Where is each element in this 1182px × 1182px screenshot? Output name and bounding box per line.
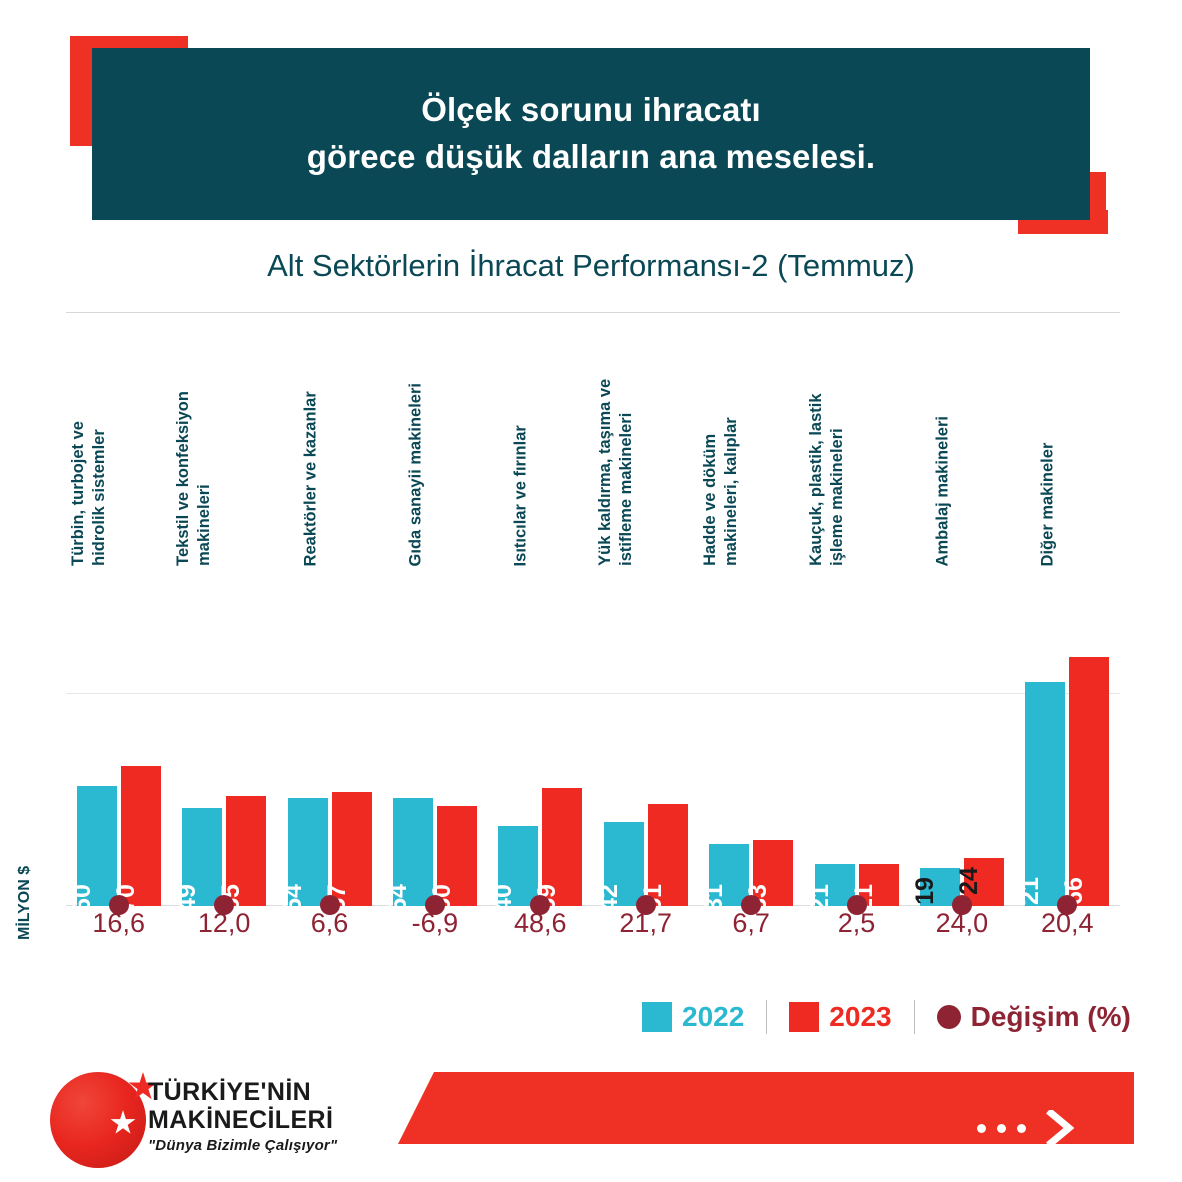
legend-item-2023[interactable]: 2023 [767, 1001, 913, 1033]
legend-label: 2023 [829, 1001, 891, 1033]
bar-2023: 59 [542, 788, 582, 906]
bar-value-label: 19 [911, 877, 940, 905]
bar-2022: 42 [604, 822, 644, 906]
header-text-box: Ölçek sorunu ihracatı görece düşük dalla… [92, 48, 1090, 220]
category-label: Ambalaj makineleri [932, 316, 953, 566]
chart-plot-area: 6070495554575450405942513133212119242212… [66, 566, 1120, 906]
bar-group: 4955 [182, 566, 266, 906]
category-label: Gıda sanayii makineleri [405, 316, 426, 566]
bar-group: 3133 [709, 566, 793, 906]
bar-group: 2121 [815, 566, 899, 906]
bar-group: 6070 [77, 566, 161, 906]
header-headline: Ölçek sorunu ihracatı görece düşük dalla… [307, 87, 875, 181]
header-headline-line2: görece düşük dalların ana meselesi. [307, 134, 875, 181]
bar-2022: 54 [393, 798, 433, 906]
y-axis-title: MİLYON $ [16, 820, 34, 940]
bar-group: 1924 [920, 566, 1004, 906]
logo-tagline: "Dünya Bizimle Çalışıyor" [148, 1137, 337, 1154]
bar-2023: 70 [121, 766, 161, 906]
change-percent-label: -6,9 [412, 908, 459, 939]
bar-group: 4059 [498, 566, 582, 906]
footer: TÜRKİYE'NİN MAKİNECİLERİ "Dünya Bizimle … [0, 1050, 1182, 1182]
logo-text-block: TÜRKİYE'NİN MAKİNECİLERİ "Dünya Bizimle … [148, 1078, 337, 1154]
change-percent-label: 48,6 [514, 908, 567, 939]
legend-swatch-icon [642, 1002, 672, 1032]
legend-swatch-icon [789, 1002, 819, 1032]
banner-dots-icon [977, 1124, 1026, 1133]
category-label: Hadde ve döküm makineleri, kalıplar [700, 316, 743, 566]
banner-dot-icon [1017, 1124, 1026, 1133]
change-percent-label: 12,0 [198, 908, 251, 939]
bar-2022: 54 [288, 798, 328, 906]
bar-value-label: 24 [955, 867, 984, 895]
logo-line2: MAKİNECİLERİ [148, 1106, 337, 1134]
header-banner: Ölçek sorunu ihracatı görece düşük dalla… [0, 0, 1182, 250]
change-percent-label: 16,6 [92, 908, 145, 939]
category-label: Isıtıcılar ve fırınlar [511, 316, 532, 566]
bar-2023: 51 [648, 804, 688, 906]
chart-title: Alt Sektörlerin İhracat Performansı-2 (T… [0, 248, 1182, 284]
category-label: Yük kaldırma, taşıma ve istifleme makine… [595, 316, 638, 566]
category-label-zone: Türbin, turbojet ve hidrolik sistemlerTe… [66, 316, 1120, 566]
banner-dot-icon [977, 1124, 986, 1133]
bar-2023: 266 [1069, 657, 1109, 906]
category-label: Tekstil ve konfeksiyon makineleri [173, 316, 216, 566]
change-label-row: 16,612,06,6-6,948,621,76,72,524,020,4 [66, 908, 1120, 954]
legend-item-deiim[interactable]: Değişim (%) [915, 1001, 1153, 1033]
bar-group: 5450 [393, 566, 477, 906]
change-percent-label: 21,7 [619, 908, 672, 939]
banner-dot-icon [997, 1124, 1006, 1133]
legend-circle-icon [937, 1005, 961, 1029]
logo-line1: TÜRKİYE'NİN [148, 1078, 337, 1106]
chevron-right-icon [1046, 1110, 1074, 1146]
legend-label: 2022 [682, 1001, 744, 1033]
bar-2022: 60 [77, 786, 117, 906]
bar-group: 5457 [288, 566, 372, 906]
bar-2023: 50 [437, 806, 477, 906]
header-headline-line1: Ölçek sorunu ihracatı [421, 91, 761, 128]
bar-2023: 57 [332, 792, 372, 906]
infographic-page: Ölçek sorunu ihracatı görece düşük dalla… [0, 0, 1182, 1182]
category-label: Kauçuk, plastik, lastik işleme makineler… [806, 316, 849, 566]
legend-label: Değişim (%) [971, 1001, 1131, 1033]
change-percent-label: 2,5 [838, 908, 876, 939]
change-percent-label: 20,4 [1041, 908, 1094, 939]
change-percent-label: 6,6 [311, 908, 349, 939]
change-percent-label: 24,0 [936, 908, 989, 939]
chart-top-divider [66, 312, 1120, 313]
category-label: Diğer makineler [1038, 316, 1059, 566]
y-axis-title-holder: MİLYON $ [34, 830, 60, 940]
chart-legend: 20222023Değişim (%) [620, 995, 1153, 1039]
bar-2022: 221 [1025, 682, 1065, 906]
bar-2023: 55 [226, 796, 266, 906]
category-label: Türbin, turbojet ve hidrolik sistemler [68, 316, 111, 566]
change-percent-label: 6,7 [732, 908, 770, 939]
footer-banner[interactable] [398, 1072, 1134, 1144]
legend-item-2022[interactable]: 2022 [620, 1001, 766, 1033]
bar-group: 221266 [1025, 566, 1109, 906]
bar-group: 4251 [604, 566, 688, 906]
category-label: Reaktörler ve kazanlar [300, 316, 321, 566]
bar-2023: 33 [753, 840, 793, 906]
